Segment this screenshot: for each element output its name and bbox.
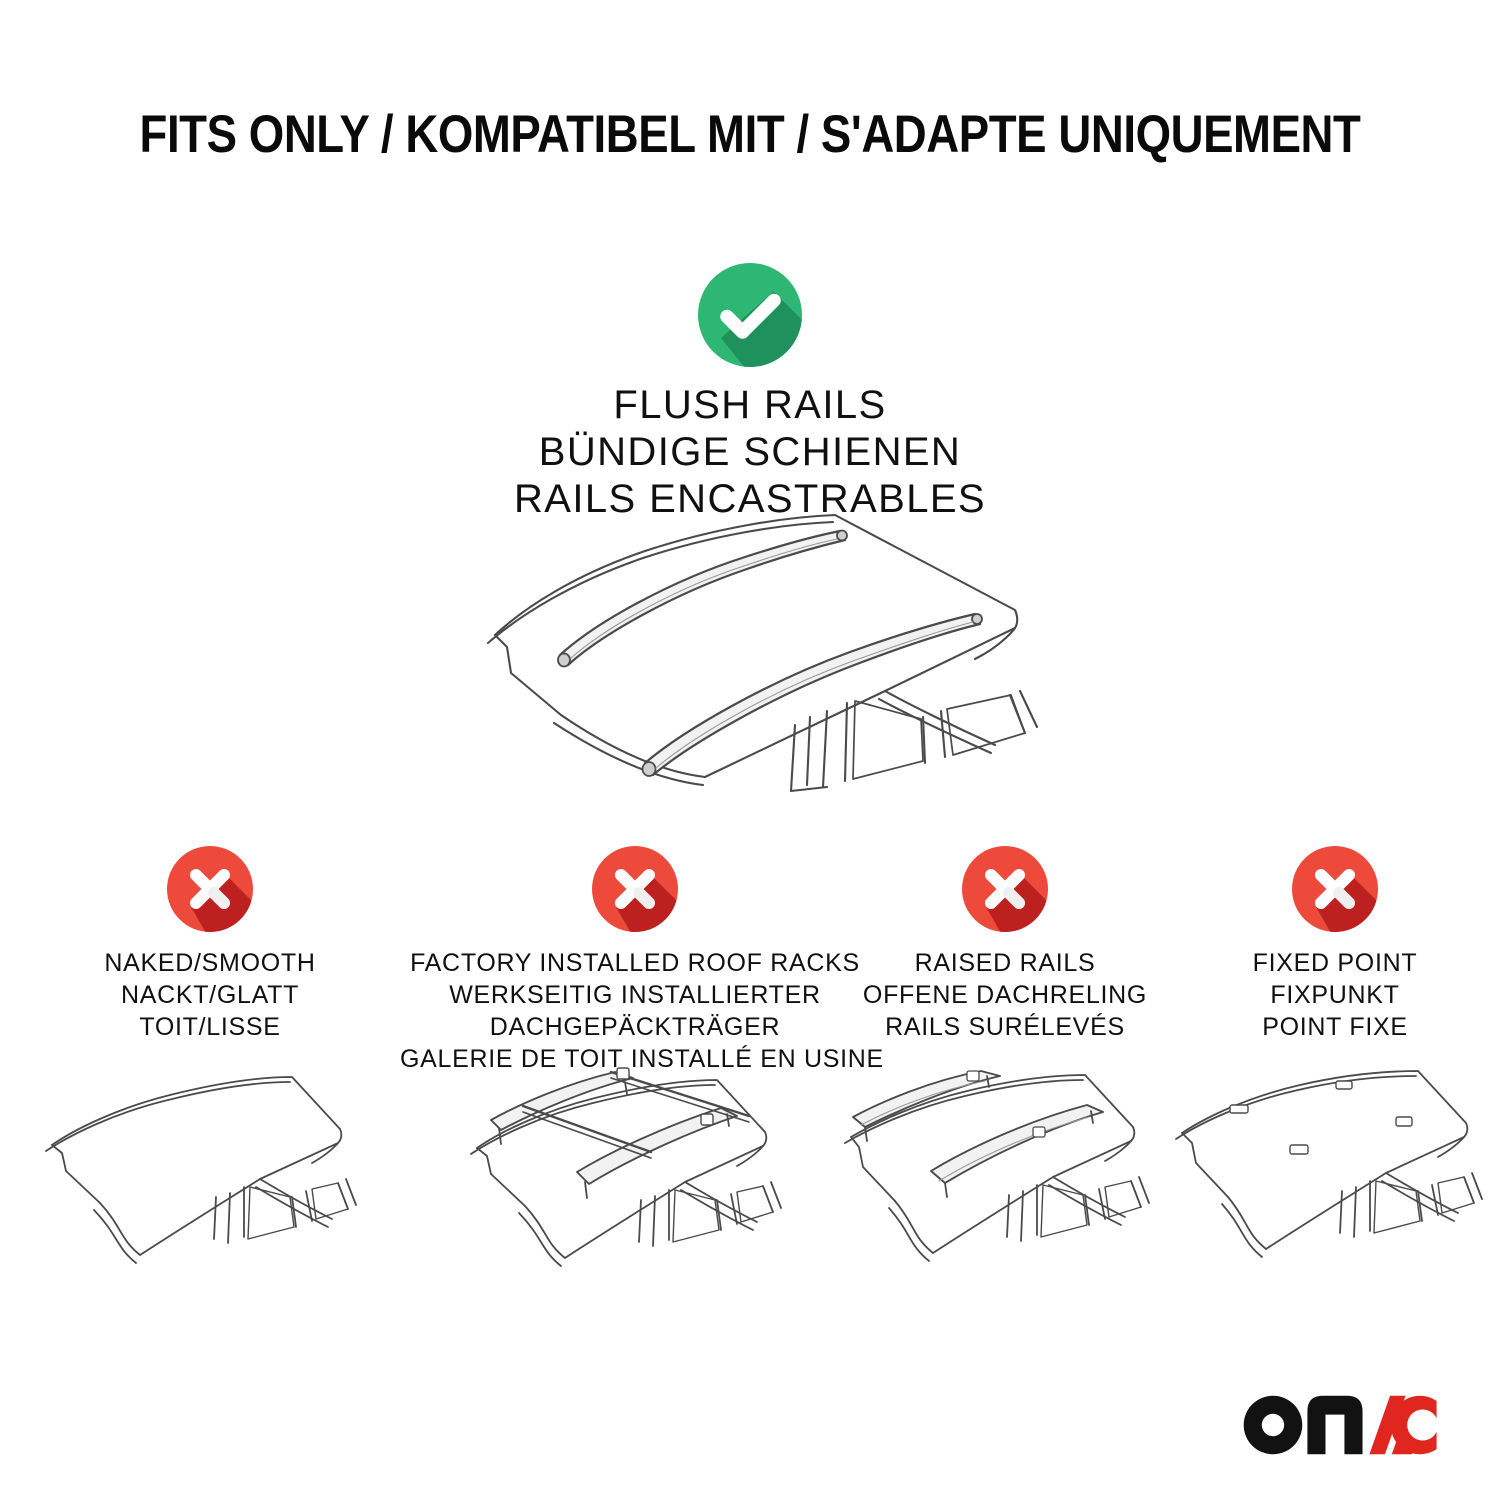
incompatible-item-fixed-point: FIXED POINT FIXPUNKT POINT FIXE: [1175, 845, 1495, 1043]
incompatible-labels: FIXED POINT FIXPUNKT POINT FIXE: [1175, 947, 1495, 1043]
car-roof-naked-smooth-diagram: [40, 1067, 380, 1292]
car-roof-fixed-point-diagram: [1170, 1067, 1500, 1292]
car-roof-flush-rails-diagram: [455, 495, 1065, 795]
label-de: NACKT/GLATT: [35, 979, 385, 1011]
omac-logo: [1226, 1394, 1456, 1456]
compatible-label-de: BÜNDIGE SCHIENEN: [0, 429, 1500, 476]
car-roof-raised-rails-diagram: [835, 1067, 1175, 1292]
label-fr: RAILS SURÉLEVÉS: [840, 1011, 1170, 1043]
label-de-1: WERKSEITIG INSTALLIERTER: [400, 979, 870, 1011]
red-cross-circle-icon: [166, 845, 254, 933]
label-en: RAISED RAILS: [840, 947, 1170, 979]
red-cross-circle-icon: [1291, 845, 1379, 933]
logo-letter-o: [1244, 1396, 1303, 1455]
label-fr: POINT FIXE: [1175, 1011, 1495, 1043]
label-en: FIXED POINT: [1175, 947, 1495, 979]
incompatible-item-raised-rails: RAISED RAILS OFFENE DACHRELING RAILS SUR…: [840, 845, 1170, 1043]
incompatible-row: NAKED/SMOOTH NACKT/GLATT TOIT/LISSE: [0, 845, 1500, 1305]
green-check-circle-icon: [697, 262, 803, 368]
logo-letter-m: [1307, 1396, 1362, 1455]
incompatible-item-naked-smooth: NAKED/SMOOTH NACKT/GLATT TOIT/LISSE: [35, 845, 385, 1043]
red-cross-circle-icon: [591, 845, 679, 933]
page-title: FITS ONLY / KOMPATIBEL MIT / S'ADAPTE UN…: [105, 104, 1395, 165]
label-fr: TOIT/LISSE: [35, 1011, 385, 1043]
incompatible-item-factory-racks: FACTORY INSTALLED ROOF RACKS WERKSEITIG …: [400, 845, 870, 1075]
label-en: NAKED/SMOOTH: [35, 947, 385, 979]
incompatible-labels: RAISED RAILS OFFENE DACHRELING RAILS SUR…: [840, 947, 1170, 1043]
label-de: FIXPUNKT: [1175, 979, 1495, 1011]
compatible-label-en: FLUSH RAILS: [0, 382, 1500, 429]
compatible-block: FLUSH RAILS BÜNDIGE SCHIENEN RAILS ENCAS…: [0, 262, 1500, 524]
label-en: FACTORY INSTALLED ROOF RACKS: [400, 947, 870, 979]
car-roof-factory-racks-diagram: [465, 1060, 805, 1295]
label-de-2: DACHGEPÄCKTRÄGER: [400, 1011, 870, 1043]
red-cross-circle-icon: [961, 845, 1049, 933]
label-de: OFFENE DACHRELING: [840, 979, 1170, 1011]
incompatible-labels: FACTORY INSTALLED ROOF RACKS WERKSEITIG …: [400, 947, 870, 1075]
incompatible-labels: NAKED/SMOOTH NACKT/GLATT TOIT/LISSE: [35, 947, 385, 1043]
